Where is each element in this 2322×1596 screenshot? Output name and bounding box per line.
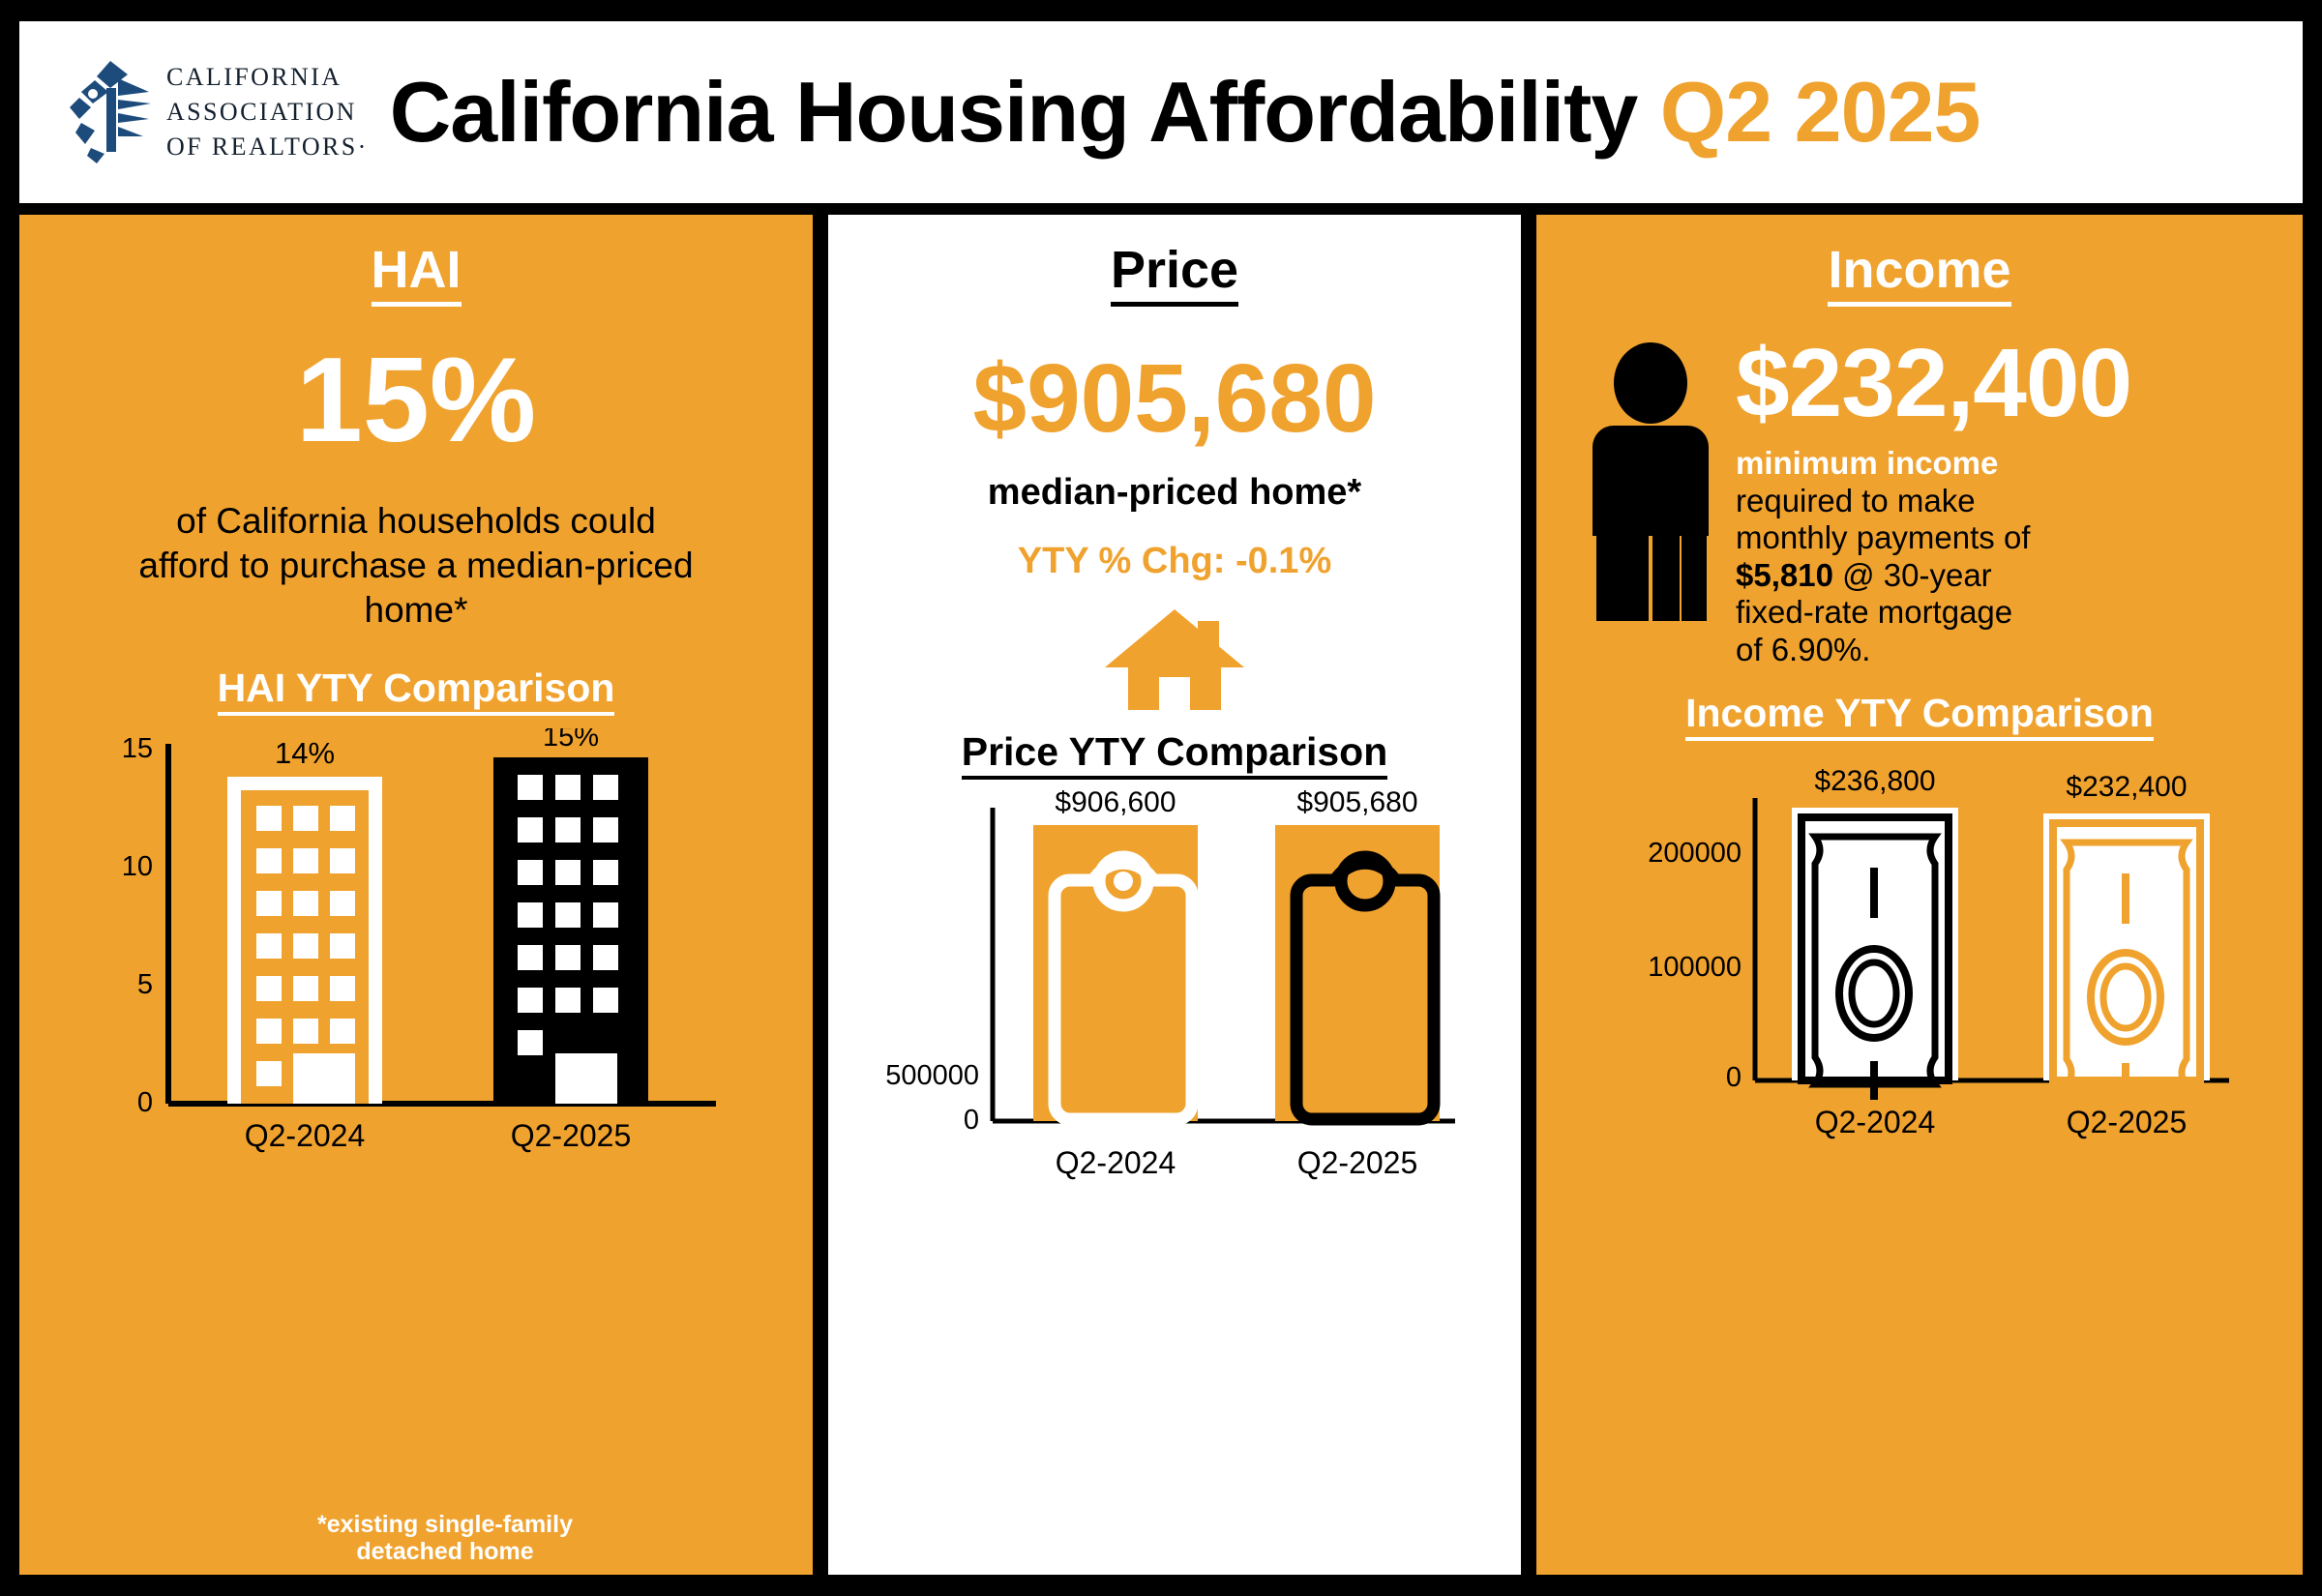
price-xtick-2025: Q2-2025 (1297, 1145, 1418, 1180)
hai-description: of California households could afford to… (19, 499, 813, 633)
hai-chart: 15 10 5 0 (77, 728, 755, 1173)
header-bar: CALIFORNIA ASSOCIATION OF REALTORS· Cali… (19, 21, 2303, 203)
income-desc-l5: of 6.90%. (1736, 632, 1870, 667)
banknote-2025-tick-bottom (2122, 1063, 2129, 1100)
income-ytick-100000: 100000 (1648, 952, 1741, 983)
income-desc-l4: fixed-rate mortgage (1736, 594, 2012, 630)
price-xtick-2024: Q2-2024 (1056, 1145, 1176, 1180)
income-ytick-0: 0 (1726, 1062, 1741, 1093)
panel-hai: HAI 15% of California households could a… (19, 215, 813, 1575)
income-label-2025: $232,400 (2066, 771, 2187, 803)
price-label-2025: $905,680 (1296, 786, 1417, 818)
income-xtick-2025: Q2-2025 (2067, 1105, 2188, 1139)
price-chart: 500000 0 $906,600 (855, 784, 1494, 1191)
house-icon (1097, 604, 1252, 712)
banknote-2024-tick-top (1870, 868, 1878, 918)
price-chart-title: Price YTY Comparison (828, 729, 1521, 775)
panel-income: Income $232,400 minimum income required … (1536, 215, 2303, 1575)
page-title-quarter: Q2 2025 (1660, 64, 1980, 160)
income-xtick-2024: Q2-2024 (1815, 1105, 1936, 1139)
hai-xtick-2025: Q2-2025 (511, 1118, 632, 1153)
hai-ytick-5: 5 (137, 969, 153, 1000)
infographic-canvas: CALIFORNIA ASSOCIATION OF REALTORS· Cali… (0, 0, 2322, 1596)
income-desc-l1: required to make (1736, 483, 1976, 518)
price-heading: Price (828, 215, 1521, 300)
car-logo-icon (68, 59, 153, 165)
income-desc-l2: monthly payments of (1736, 519, 2030, 555)
income-description: minimum income required to make monthly … (1736, 445, 2123, 669)
hai-xtick-2024: Q2-2024 (245, 1118, 366, 1153)
price-tag-2024-hole-dot (1114, 872, 1133, 891)
hai-ytick-10: 10 (122, 851, 153, 882)
person-icon (1575, 342, 1730, 623)
price-yty-change: YTY % Chg: -0.1% (828, 541, 1521, 582)
hai-ytick-0: 0 (137, 1087, 153, 1118)
hai-label-2025: 15% (543, 728, 599, 753)
income-text-block: $232,400 minimum income required to make… (1730, 335, 2303, 669)
income-chart: 200000 100000 0 (1552, 744, 2287, 1150)
income-heading: Income (1536, 215, 2303, 300)
panel-row: HAI 15% of California households could a… (19, 215, 2303, 1575)
price-big-value: $905,680 (828, 350, 1521, 447)
panel-price: Price $905,680 median-priced home* YTY %… (828, 215, 1521, 1575)
banknote-2024-tick-bottom (1870, 1061, 1878, 1100)
price-bar-2025 (1275, 825, 1440, 1121)
logo: CALIFORNIA ASSOCIATION OF REALTORS· (68, 59, 369, 165)
income-big-value: $232,400 (1736, 335, 2303, 431)
logo-text: CALIFORNIA ASSOCIATION OF REALTORS· (166, 60, 369, 164)
income-bar-2024 (1792, 808, 1958, 1100)
income-desc-l3: @ 30-year (1833, 557, 1992, 593)
income-ytick-200000: 200000 (1648, 838, 1741, 869)
income-bar-2025 (2043, 813, 2210, 1100)
hai-ytick-15: 15 (122, 733, 153, 764)
price-ytick-500000: 500000 (885, 1060, 979, 1091)
hai-bar-2025 (493, 757, 648, 1104)
price-bar-2024 (1033, 825, 1198, 1121)
logo-line-3: OF REALTORS· (166, 130, 369, 164)
logo-line-1: CALIFORNIA (166, 60, 369, 95)
hai-heading: HAI (19, 215, 813, 300)
income-summary: $232,400 minimum income required to make… (1536, 335, 2303, 669)
logo-line-2: ASSOCIATION (166, 95, 369, 130)
income-desc-payment: $5,810 (1736, 557, 1833, 593)
page-title-main: California Housing Affordability (390, 64, 1638, 160)
price-subtitle: median-priced home* (828, 472, 1521, 514)
income-desc-white: minimum income (1736, 445, 1998, 481)
hai-big-value: 15% (19, 340, 813, 460)
banknote-2025-tick-top (2122, 873, 2129, 924)
income-chart-title: Income YTY Comparison (1536, 691, 2303, 736)
hai-footnote: *existing single-family detached home (271, 1511, 619, 1565)
price-ytick-0: 0 (964, 1105, 979, 1136)
price-label-2024: $906,600 (1055, 786, 1176, 818)
income-label-2024: $236,800 (1814, 765, 1935, 797)
hai-bar-2024 (227, 777, 382, 1104)
page-title: California Housing Affordability Q2 2025 (390, 70, 1980, 155)
hai-chart-title: HAI YTY Comparison (19, 665, 813, 711)
hai-label-2024: 14% (275, 736, 335, 770)
